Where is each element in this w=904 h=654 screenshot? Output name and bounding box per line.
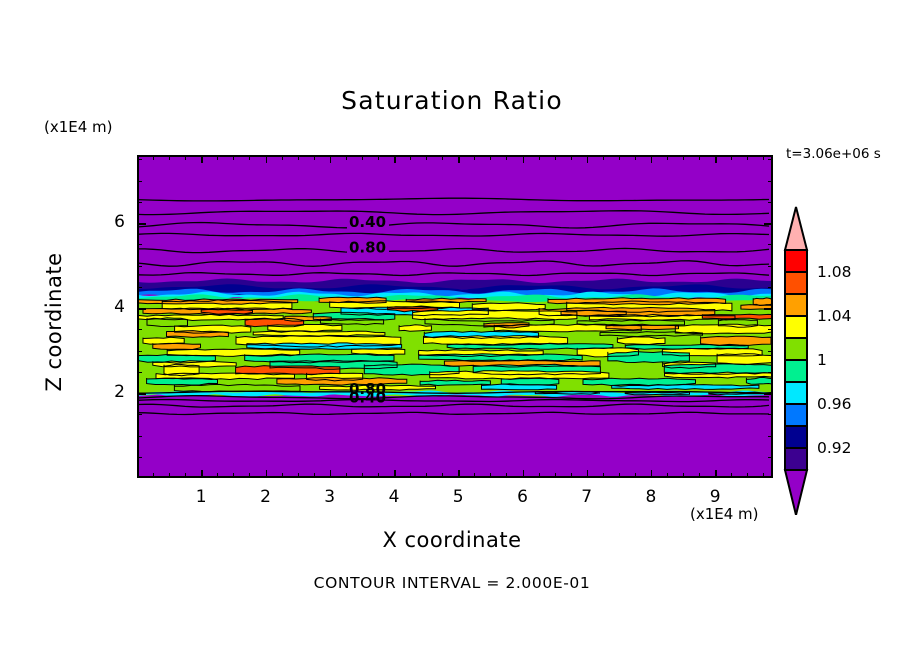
x-axis-minor-tick-top (474, 155, 475, 160)
x-axis-minor-tick-top (410, 155, 411, 160)
contour-plot: 0.400.800.800.40 (137, 155, 773, 478)
contour-label: 0.40 (349, 389, 386, 407)
y-axis-minor-tick-right (768, 457, 773, 458)
y-axis-tick-label: 6 (95, 212, 125, 232)
x-axis-minor-tick-top (282, 155, 283, 160)
x-axis-minor-tick (233, 473, 234, 478)
y-axis-minor-tick (137, 329, 142, 330)
timestamp-label: t=3.06e+06 s (786, 146, 881, 162)
x-axis-minor-tick-top (185, 155, 186, 160)
x-axis-minor-tick-top (362, 155, 363, 160)
y-axis-minor-tick-right (768, 436, 773, 437)
y-axis-minor-tick (137, 202, 142, 203)
x-axis-minor-tick (731, 473, 732, 478)
y-axis-minor-tick (137, 457, 142, 458)
x-axis-minor-tick (763, 473, 764, 478)
x-axis-minor-tick-top (442, 155, 443, 160)
y-axis-minor-tick-right (768, 372, 773, 373)
x-axis-minor-tick-top (458, 155, 459, 160)
colorbar-tick-label: 1.08 (817, 263, 852, 281)
y-axis-minor-tick-right (768, 266, 773, 267)
x-axis-minor-tick-top (683, 155, 684, 160)
x-axis-minor-tick (346, 473, 347, 478)
x-axis-minor-tick (699, 473, 700, 478)
x-axis-minor-tick-top (603, 155, 604, 160)
x-axis-minor-tick (426, 473, 427, 478)
x-axis-minor-tick-top (426, 155, 427, 160)
x-axis-tick-label: 9 (700, 487, 730, 507)
x-axis-minor-tick-top (153, 155, 154, 160)
x-axis-minor-tick-top (233, 155, 234, 160)
x-axis-minor-tick-top (330, 155, 331, 160)
x-axis-minor-tick-top (217, 155, 218, 160)
y-axis-minor-tick-right (768, 244, 773, 245)
y-axis-minor-tick (137, 244, 142, 245)
y-axis-minor-tick-right (768, 308, 773, 309)
x-axis-minor-tick (442, 473, 443, 478)
x-axis-minor-tick-top (715, 155, 716, 160)
x-axis-tick-label: 7 (572, 487, 602, 507)
x-axis-minor-tick (490, 473, 491, 478)
x-axis-minor-tick-top (266, 155, 267, 160)
y-axis-minor-tick-right (768, 414, 773, 415)
y-axis-minor-tick (137, 372, 142, 373)
x-axis-tick-label: 5 (443, 487, 473, 507)
y-axis-unit-label: (x1E4 m) (44, 118, 113, 136)
x-axis-minor-tick-top (523, 155, 524, 160)
x-axis-minor-tick-top (298, 155, 299, 160)
x-axis-minor-tick (282, 473, 283, 478)
colorbar-band (785, 250, 807, 272)
x-axis-minor-tick-top (619, 155, 620, 160)
x-axis-minor-tick (458, 473, 459, 478)
y-axis-tick-label: 2 (95, 382, 125, 402)
colorbar-tick-label: 1.04 (817, 307, 852, 325)
x-axis-minor-tick (410, 473, 411, 478)
x-axis-minor-tick (635, 473, 636, 478)
colorbar-tick-label: 0.96 (817, 395, 852, 413)
x-axis-tick-label: 3 (315, 487, 345, 507)
colorbar-band (785, 272, 807, 294)
y-axis-minor-tick (137, 223, 142, 224)
x-axis-minor-tick-top (346, 155, 347, 160)
x-axis-minor-tick (378, 473, 379, 478)
x-axis-tick-label: 8 (636, 487, 666, 507)
x-axis-minor-tick (587, 473, 588, 478)
y-axis-minor-tick-right (768, 351, 773, 352)
x-axis-title: X coordinate (0, 528, 904, 552)
x-axis-minor-tick (619, 473, 620, 478)
y-axis-tick-label: 4 (95, 297, 125, 317)
colorbar-band (785, 382, 807, 404)
x-axis-minor-tick (474, 473, 475, 478)
x-axis-minor-tick-top (506, 155, 507, 160)
x-axis-minor-tick-top (394, 155, 395, 160)
x-axis-minor-tick (153, 473, 154, 478)
x-axis-unit-label: (x1E4 m) (690, 505, 759, 523)
y-axis-minor-tick (137, 159, 142, 160)
x-axis-minor-tick (651, 473, 652, 478)
x-axis-minor-tick (603, 473, 604, 478)
x-axis-minor-tick (169, 473, 170, 478)
x-axis-minor-tick-top (249, 155, 250, 160)
y-axis-minor-tick (137, 308, 142, 309)
x-axis-minor-tick-top (699, 155, 700, 160)
x-axis-minor-tick-top (490, 155, 491, 160)
x-axis-minor-tick (217, 473, 218, 478)
x-axis-minor-tick-top (747, 155, 748, 160)
x-axis-minor-tick-top (763, 155, 764, 160)
colorbar-band (785, 426, 807, 448)
colorbar: 1.081.0410.960.92 (783, 205, 903, 519)
y-axis-minor-tick (137, 351, 142, 352)
x-axis-minor-tick (683, 473, 684, 478)
x-axis-minor-tick (506, 473, 507, 478)
x-axis-tick-label: 6 (508, 487, 538, 507)
x-axis-minor-tick-top (555, 155, 556, 160)
y-axis-minor-tick (137, 414, 142, 415)
x-axis-minor-tick (394, 473, 395, 478)
x-axis-minor-tick (201, 473, 202, 478)
contour-label: 0.80 (349, 239, 386, 257)
x-axis-minor-tick (667, 473, 668, 478)
x-axis-minor-tick-top (201, 155, 202, 160)
x-axis-minor-tick-top (571, 155, 572, 160)
colorbar-band (785, 294, 807, 316)
x-axis-minor-tick (249, 473, 250, 478)
y-axis-minor-tick (137, 393, 142, 394)
y-axis-minor-tick (137, 181, 142, 182)
x-axis-minor-tick-top (731, 155, 732, 160)
y-axis-minor-tick-right (768, 287, 773, 288)
colorbar-band (785, 404, 807, 426)
contour-plot-canvas: 0.400.800.800.40 (137, 155, 773, 478)
y-axis-minor-tick (137, 436, 142, 437)
colorbar-band (785, 316, 807, 338)
y-axis-minor-tick (137, 287, 142, 288)
y-axis-minor-tick-right (768, 393, 773, 394)
y-axis-minor-tick-right (768, 181, 773, 182)
y-axis-minor-tick (137, 266, 142, 267)
x-axis-minor-tick (523, 473, 524, 478)
y-axis-minor-tick-right (768, 223, 773, 224)
colorbar-band (785, 360, 807, 382)
colorbar-band (785, 448, 807, 470)
y-axis-minor-tick-right (768, 329, 773, 330)
x-axis-minor-tick-top (314, 155, 315, 160)
x-axis-minor-tick (715, 473, 716, 478)
y-axis-title: Z coordinate (42, 232, 66, 412)
x-axis-tick-label: 4 (379, 487, 409, 507)
x-axis-minor-tick-top (169, 155, 170, 160)
contour-interval-caption: CONTOUR INTERVAL = 2.000E-01 (0, 574, 904, 592)
x-axis-minor-tick (185, 473, 186, 478)
x-axis-minor-tick (539, 473, 540, 478)
x-axis-minor-tick (747, 473, 748, 478)
x-axis-minor-tick (555, 473, 556, 478)
x-axis-minor-tick (330, 473, 331, 478)
x-axis-tick-label: 2 (251, 487, 281, 507)
x-axis-minor-tick-top (667, 155, 668, 160)
x-axis-minor-tick-top (635, 155, 636, 160)
y-axis-minor-tick-right (768, 159, 773, 160)
x-axis-minor-tick (314, 473, 315, 478)
x-axis-minor-tick (362, 473, 363, 478)
page-title: Saturation Ratio (0, 86, 904, 115)
x-axis-minor-tick-top (587, 155, 588, 160)
colorbar-tick-label: 1 (817, 351, 827, 369)
colorbar-band (785, 338, 807, 360)
x-axis-minor-tick-top (378, 155, 379, 160)
colorbar-svg: 1.081.0410.960.92 (783, 205, 903, 515)
x-axis-minor-tick-top (539, 155, 540, 160)
x-axis-tick-label: 1 (186, 487, 216, 507)
x-axis-minor-tick-top (651, 155, 652, 160)
colorbar-tick-label: 0.92 (817, 439, 852, 457)
x-axis-minor-tick (571, 473, 572, 478)
contour-label: 0.40 (349, 213, 386, 231)
x-axis-minor-tick (266, 473, 267, 478)
y-axis-minor-tick-right (768, 202, 773, 203)
x-axis-minor-tick (298, 473, 299, 478)
